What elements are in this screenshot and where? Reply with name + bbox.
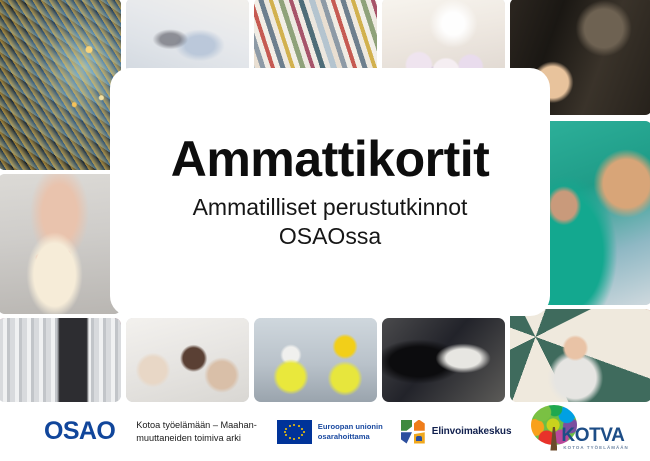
construction-photo xyxy=(254,318,377,402)
project-tagline: Kotoa työelämään – Maahan- muuttaneiden … xyxy=(136,419,257,443)
page-subtitle: Ammatilliset perustutkinnot OSAOssa xyxy=(193,193,468,251)
slide-canvas: Ammattikortit Ammatilliset perustutkinno… xyxy=(0,0,650,461)
retail-tablet-photo-right xyxy=(510,309,650,402)
elinvoimakeskus-mark-icon xyxy=(401,420,425,444)
title-card: Ammattikortit Ammatilliset perustutkinno… xyxy=(110,68,550,316)
eu-funding-text: Euroopan unionin osarahoittama xyxy=(318,422,383,442)
project-tagline-line1: Kotoa työelämään – Maahan- xyxy=(136,420,257,430)
page-subtitle-line1: Ammatilliset perustutkinnot xyxy=(193,194,468,220)
page-subtitle-line2: OSAOssa xyxy=(279,223,381,249)
eu-funding-line2: osarahoittama xyxy=(318,432,370,441)
eu-funding-line1: Euroopan unionin xyxy=(318,422,383,431)
project-tagline-line2: muuttaneiden toimiva arki xyxy=(136,433,241,443)
footer-logo-bar: OSAO Kotoa työelämään – Maahan- muuttane… xyxy=(0,402,650,461)
eu-flag-icon xyxy=(277,420,312,444)
vehicle-detailing-photo xyxy=(382,318,505,402)
childcare-photo xyxy=(126,318,249,402)
kotva-wordmark: KOTVA xyxy=(561,426,624,445)
welding-photo xyxy=(0,0,121,170)
elinvoimakeskus-logo: Elinvoimakeskus xyxy=(401,420,512,444)
electrician-photo-left xyxy=(0,318,121,402)
eu-funding-logo: Euroopan unionin osarahoittama xyxy=(277,420,383,444)
elinvoimakeskus-label: Elinvoimakeskus xyxy=(432,426,512,437)
osao-logo: OSAO xyxy=(44,419,115,444)
kotva-logo: KOTVA KOTOA TYÖELÄMÄÄN xyxy=(525,404,625,460)
baker-photo xyxy=(0,174,121,314)
page-title: Ammattikortit xyxy=(171,133,490,186)
kotva-tagline: KOTOA TYÖELÄMÄÄN xyxy=(563,445,628,450)
